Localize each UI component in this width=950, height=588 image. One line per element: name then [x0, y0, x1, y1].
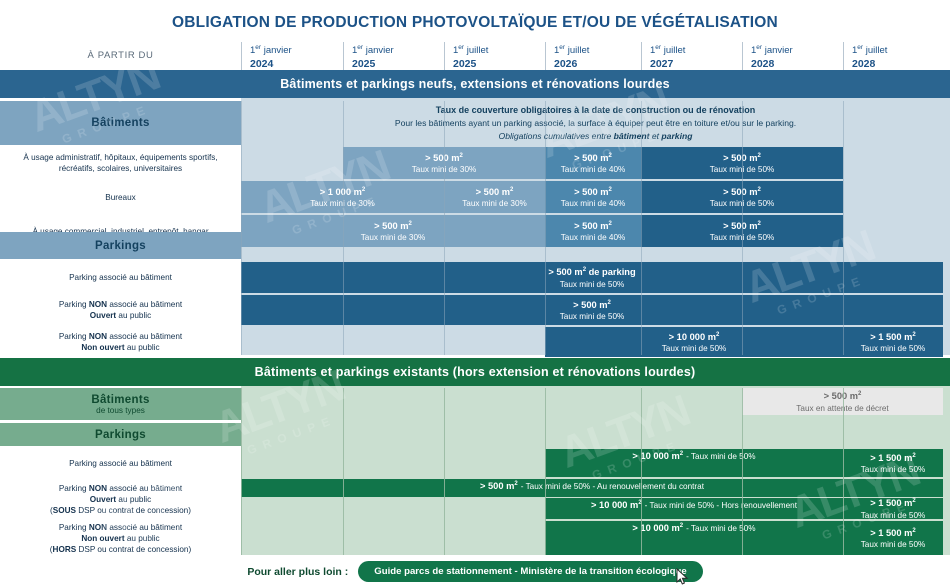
- cell-rate-40: > 500 m2 Taux mini de 40%: [545, 147, 641, 179]
- cell-rate-50: > 500 m2 de parking Taux mini de 50%: [241, 262, 943, 293]
- cell-rate: - Taux mini de 50% - Hors renouvellement: [645, 500, 797, 511]
- subheading-parkings-existing: Parkings: [0, 423, 241, 446]
- cell-area: > 1 500 m2: [870, 330, 915, 343]
- table-row: Bureaux > 1 000 m2 Taux mini de 30% > 50…: [0, 181, 950, 213]
- date-year: 2028: [751, 58, 843, 70]
- footer-label: Pour aller plus loin :: [247, 566, 348, 578]
- row-label-line2: Non ouvert au public: [81, 533, 159, 544]
- row-label-line1: Parking associé au bâtiment: [69, 272, 172, 283]
- cell-rate: Taux mini de 30%: [462, 198, 527, 209]
- column-divider: [843, 388, 844, 555]
- row-label-line3: (SOUS DSP ou contrat de concession): [50, 505, 191, 516]
- cell-rate: Taux mini de 50%: [560, 311, 625, 322]
- cell-rate-40: > 500 m2 Taux mini de 40%: [545, 181, 641, 213]
- cell-rate: Taux mini de 50%: [861, 343, 926, 354]
- cell-rate-50: > 500 m2 Taux mini de 50%: [241, 295, 943, 325]
- note-line-1: Taux de couverture obligatoires à la dat…: [436, 104, 755, 117]
- column-divider: [641, 388, 642, 555]
- cell-hors-renouvellement: > 10 000 m2 - Taux mini de 50% - Hors re…: [545, 498, 843, 519]
- column-divider: [444, 101, 445, 355]
- date-column-2024: 1er janvier 2024: [241, 42, 343, 70]
- row-label-parking-non-associe-non-ouvert-hors-dsp: Parking NON associé au bâtiment Non ouve…: [0, 521, 241, 555]
- date-column-2028-jan: 1er janvier 2028: [742, 42, 843, 70]
- section-title-new: Bâtiments et parkings neufs, extensions …: [0, 70, 950, 98]
- table-row: Parking associé au bâtiment > 500 m2 de …: [0, 262, 950, 293]
- column-divider: [444, 388, 445, 555]
- row-label-administratif: À usage administratif, hôpitaux, équipem…: [0, 147, 241, 179]
- date-day: 1er janvier: [250, 42, 343, 57]
- cell-rate-50: > 1 500 m2 Taux mini de 50%: [843, 449, 943, 477]
- table-row: Parking NON associé au bâtiment Ouvert a…: [0, 479, 950, 519]
- column-divider: [343, 388, 344, 555]
- date-column-2027: 1er juillet 2027: [641, 42, 742, 70]
- cell-area: > 500 m2: [374, 219, 412, 232]
- date-year: 2025: [453, 58, 545, 70]
- date-year: 2027: [650, 58, 742, 70]
- row-label-parking-non-associe-ouvert: Parking NON associé au bâtiment Ouvert a…: [0, 295, 241, 325]
- subheading-sublabel: de tous types: [96, 406, 145, 415]
- table-row: Parking NON associé au bâtiment Ouvert a…: [0, 295, 950, 325]
- row-label-line1: À usage administratif, hôpitaux, équipem…: [23, 152, 217, 163]
- cell-rate: Taux mini de 50%: [861, 539, 926, 550]
- date-day: 1er juillet: [453, 42, 545, 57]
- note-line-2: Pour les bâtiments ayant un parking asso…: [395, 117, 796, 130]
- table-row: Parking NON associé au bâtiment Non ouve…: [0, 521, 950, 555]
- cell-rate-40: > 500 m2 Taux mini de 40%: [545, 215, 641, 247]
- date-year: 2025: [352, 58, 444, 70]
- cell-rate: Taux mini de 50%: [861, 510, 926, 521]
- date-day: 1er juillet: [852, 42, 943, 57]
- cell-rate: Taux mini de 50%: [662, 343, 727, 354]
- cell-rate-50: > 1 500 m2 Taux mini de 50%: [843, 498, 943, 519]
- subheading-buildings-existing: Bâtiments de tous types: [0, 388, 241, 420]
- date-column-2028-jul: 1er juillet 2028: [843, 42, 943, 70]
- column-divider: [241, 388, 242, 555]
- cell-area: > 500 m2: [476, 185, 514, 198]
- cell-area: > 500 m2: [480, 479, 518, 492]
- cell-rate: Taux mini de 40%: [561, 198, 626, 209]
- section-title-existing: Bâtiments et parkings existants (hors ex…: [0, 358, 950, 386]
- subheading-label: Bâtiments: [91, 117, 149, 129]
- column-divider: [742, 388, 743, 555]
- cell-rate-50: > 10 000 m2 - Taux mini de 50%: [545, 449, 843, 477]
- subheading-buildings-new: Bâtiments: [0, 101, 241, 145]
- cell-area: > 1 500 m2: [870, 496, 915, 509]
- cell-rate: Taux mini de 50%: [560, 279, 625, 290]
- subheading-parkings-new: Parkings: [0, 232, 241, 259]
- cell-area: > 1 500 m2: [870, 526, 915, 539]
- timeline-header-label: À PARTIR DU: [0, 40, 241, 70]
- date-column-2026: 1er juillet 2026: [545, 42, 641, 70]
- note-line-3: Obligations cumulatives entre bâtiment e…: [499, 130, 693, 143]
- timeline-header: À PARTIR DU 1er janvier 2024 1er janvier…: [0, 40, 950, 70]
- date-day: 1er janvier: [352, 42, 444, 57]
- subheading-label: Parkings: [95, 429, 146, 441]
- column-divider: [241, 101, 242, 355]
- row-label-line2: Ouvert au public: [90, 310, 151, 321]
- row-label-bureaux: Bureaux: [0, 181, 241, 213]
- infographic-page: ALTYN GROUPE ALTYN GROUPE ALTYN GROUPE A…: [0, 0, 950, 588]
- subheading-label: Bâtiments: [91, 394, 149, 406]
- subheading-label: Parkings: [95, 240, 146, 252]
- cell-area: > 10 000 m2: [669, 330, 720, 343]
- date-day: 1er juillet: [650, 42, 742, 57]
- date-column-2025-jan: 1er janvier 2025: [343, 42, 444, 70]
- cell-rate: Taux mini de 30%: [361, 232, 426, 243]
- column-divider: [545, 101, 546, 355]
- cell-area: > 1 500 m2: [870, 451, 915, 464]
- mouse-cursor-icon: [676, 568, 690, 586]
- row-label-parking-associe: Parking associé au bâtiment: [0, 262, 241, 293]
- date-year: 2028: [852, 58, 943, 70]
- cell-rate: Taux mini de 40%: [561, 164, 626, 175]
- cell-area: > 500 m2 de parking: [548, 265, 635, 278]
- column-divider: [742, 101, 743, 355]
- cell-area: > 500 m2: [573, 298, 611, 311]
- date-column-2025-jul: 1er juillet 2025: [444, 42, 545, 70]
- date-year: 2026: [554, 58, 641, 70]
- column-divider: [545, 388, 546, 555]
- cell-renouvellement: > 500 m2 - Taux mini de 50% - Au renouve…: [241, 479, 943, 497]
- cell-rate-50: > 1 500 m2 Taux mini de 50%: [843, 327, 943, 357]
- cell-area: > 500 m2: [574, 185, 612, 198]
- cell-rate-50: > 10 000 m2 Taux mini de 50%: [545, 327, 843, 357]
- row-label-line1: Bureaux: [105, 192, 136, 203]
- row-label-parking-associe-existing: Parking associé au bâtiment: [0, 449, 241, 477]
- guide-link-button[interactable]: Guide parcs de stationnement - Ministère…: [358, 561, 702, 582]
- cell-rate-30: > 500 m2 Taux mini de 30%: [241, 215, 545, 247]
- column-divider: [843, 101, 844, 355]
- date-day: 1er juillet: [554, 42, 641, 57]
- row-label-line1: Parking NON associé au bâtiment: [59, 299, 182, 310]
- row-label-line1: Parking associé au bâtiment: [69, 458, 172, 469]
- row-label-line1: Parking NON associé au bâtiment: [59, 331, 182, 342]
- cell-rate: Taux mini de 40%: [561, 232, 626, 243]
- page-title: OBLIGATION DE PRODUCTION PHOTOVOLTAÏQUE …: [0, 14, 950, 32]
- cell-area: > 500 m2: [574, 151, 612, 164]
- row-label-parking-non-associe-ouvert-sous-dsp: Parking NON associé au bâtiment Ouvert a…: [0, 479, 241, 519]
- date-day: 1er janvier: [751, 42, 843, 57]
- table-row: Parking NON associé au bâtiment Non ouve…: [0, 327, 950, 357]
- row-label-line1: Parking NON associé au bâtiment: [59, 522, 182, 533]
- cell-rate-30: > 500 m2 Taux mini de 30%: [444, 181, 545, 213]
- cell-rate: - Taux mini de 50%: [686, 451, 755, 462]
- date-year: 2024: [250, 58, 343, 70]
- row-label-parking-non-associe-non-ouvert: Parking NON associé au bâtiment Non ouve…: [0, 327, 241, 357]
- cell-rate: - Taux mini de 50%: [686, 523, 755, 534]
- footer: Pour aller plus loin : Guide parcs de st…: [0, 561, 950, 582]
- cell-rate: - Taux mini de 50% - Au renouvellement d…: [521, 481, 704, 492]
- cell-area: > 500 m2: [574, 219, 612, 232]
- row-label-line3: (HORS DSP ou contrat de concession): [50, 544, 191, 555]
- table-row: À usage administratif, hôpitaux, équipem…: [0, 147, 950, 179]
- table-row: Parking associé au bâtiment > 10 000 m2 …: [0, 449, 950, 477]
- row-label-line1: Parking NON associé au bâtiment: [59, 483, 182, 494]
- column-divider: [343, 101, 344, 355]
- row-label-line2: Ouvert au public: [90, 494, 151, 505]
- cell-rate: Taux mini de 50%: [861, 464, 926, 475]
- column-divider: [641, 101, 642, 355]
- cell-area: > 10 000 m2: [591, 498, 642, 511]
- cell-rate-50: > 10 000 m2 - Taux mini de 50%: [545, 521, 843, 555]
- row-label-line2: récréatifs, scolaires, universitaires: [59, 163, 182, 174]
- row-label-line2: Non ouvert au public: [81, 342, 159, 353]
- cell-rate-50: > 1 500 m2 Taux mini de 50%: [843, 521, 943, 555]
